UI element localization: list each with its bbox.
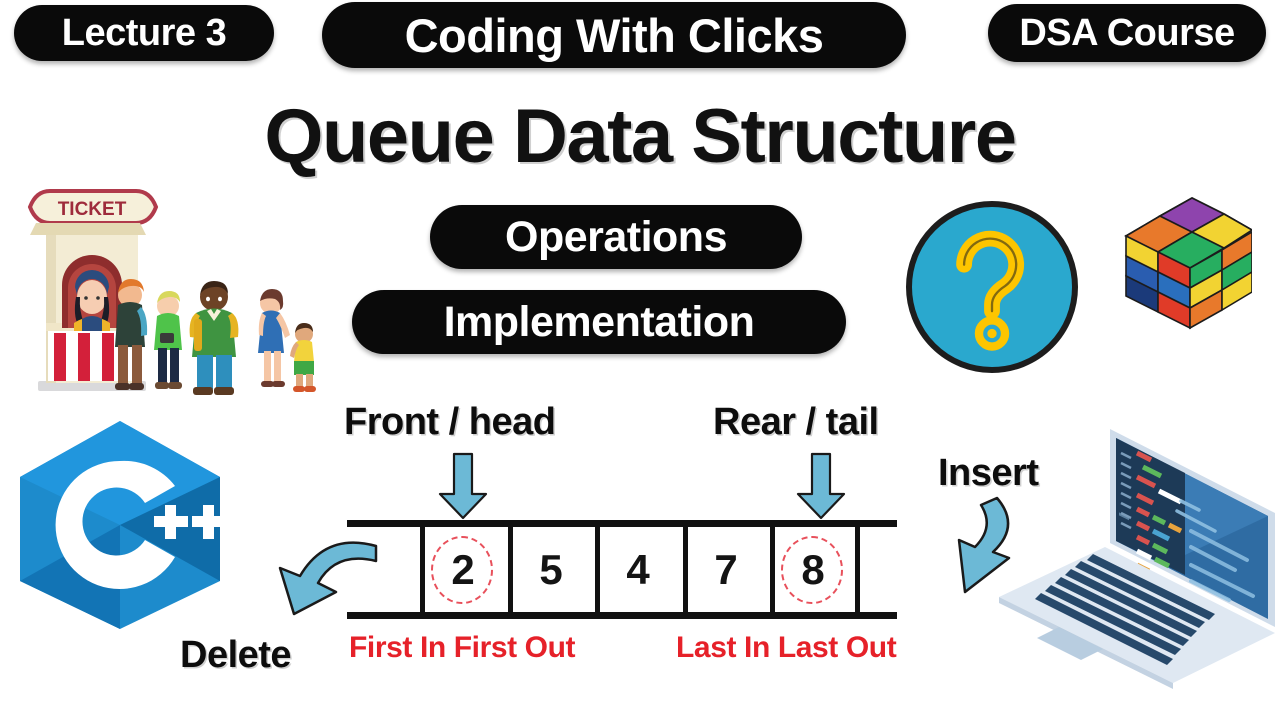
ticket-counter-queue-illustration: TICKET xyxy=(8,185,338,400)
insert-label: Insert xyxy=(938,452,1038,495)
youtube-thumbnail-canvas: Lecture 3 Coding With Clicks DSA Course … xyxy=(0,0,1280,720)
lilo-label: Last In Last Out xyxy=(676,631,896,665)
queue-diagram: 2 5 4 7 8 xyxy=(330,440,910,630)
topic-badge-operations: Operations xyxy=(430,205,802,269)
topic-badge-implementation: Implementation xyxy=(352,290,846,354)
topic-badge-implementation-label: Implementation xyxy=(444,298,755,347)
cpp-language-logo xyxy=(8,415,233,635)
queue-cell-divider xyxy=(855,524,860,614)
fifo-label: First In First Out xyxy=(349,631,575,665)
queue-cell-value: 8 xyxy=(771,528,855,612)
course-badge-label: DSA Course xyxy=(1019,12,1234,55)
question-mark-badge xyxy=(906,201,1078,373)
rear-tail-label: Rear / tail xyxy=(713,401,879,444)
queue-cell-value: 5 xyxy=(509,528,593,612)
queue-cell-value: 7 xyxy=(684,528,768,612)
question-mark-icon xyxy=(912,207,1072,367)
queue-cell-value: 2 xyxy=(421,528,505,612)
insert-curved-arrow-icon xyxy=(905,490,1025,600)
page-title: Queue Data Structure xyxy=(0,93,1280,180)
channel-badge-label: Coding With Clicks xyxy=(405,8,824,63)
delete-label: Delete xyxy=(180,634,291,677)
queue-cell-value: 4 xyxy=(596,528,680,612)
ticket-sign-label: TICKET xyxy=(58,199,127,220)
rubiks-cube-icon xyxy=(1112,190,1252,330)
front-head-label: Front / head xyxy=(344,401,555,444)
queue-top-rail xyxy=(347,520,897,527)
lecture-badge: Lecture 3 xyxy=(14,5,274,61)
channel-badge: Coding With Clicks xyxy=(322,2,906,68)
course-badge: DSA Course xyxy=(988,4,1266,62)
queue-bottom-rail xyxy=(347,612,897,619)
topic-badge-operations-label: Operations xyxy=(505,213,727,262)
lecture-badge-label: Lecture 3 xyxy=(62,12,226,55)
